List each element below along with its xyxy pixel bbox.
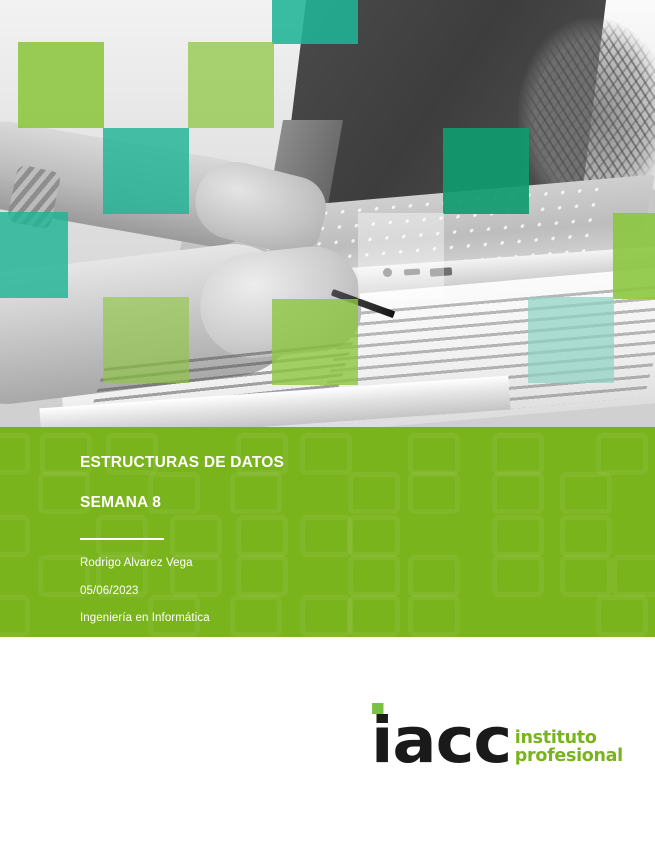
page-subtitle: SEMANA 8 xyxy=(80,471,635,511)
program-name: Ingeniería en Informática xyxy=(80,613,635,637)
mosaic-square xyxy=(188,42,274,128)
page-title: ESTRUCTURAS DE DATOS xyxy=(80,455,635,471)
logo-tagline-line2: profesional xyxy=(515,748,623,766)
logo-tagline: instituto profesional xyxy=(515,716,623,766)
banner-pattern-square xyxy=(0,433,30,475)
document-cover-page: ESTRUCTURAS DE DATOS SEMANA 8 Rodrigo Al… xyxy=(0,0,655,848)
logo-footer: iacc instituto profesional xyxy=(0,637,655,848)
banner-pattern-square xyxy=(0,515,30,557)
logo-dot-icon xyxy=(372,703,383,714)
mosaic-square xyxy=(443,128,529,214)
mosaic-square xyxy=(0,212,68,298)
mosaic-square xyxy=(358,213,444,299)
mosaic-square xyxy=(272,0,358,44)
iacc-wordmark-text: iacc xyxy=(371,704,511,777)
mosaic-square xyxy=(272,299,358,385)
iacc-wordmark: iacc xyxy=(371,716,511,766)
mosaic-square xyxy=(103,297,189,383)
title-banner: ESTRUCTURAS DE DATOS SEMANA 8 Rodrigo Al… xyxy=(0,427,655,637)
document-date: 05/06/2023 xyxy=(80,586,635,614)
document-metadata: Rodrigo Alvarez Vega 05/06/2023 Ingenier… xyxy=(80,540,635,637)
iacc-logo: iacc instituto profesional xyxy=(371,716,623,766)
banner-content: ESTRUCTURAS DE DATOS SEMANA 8 Rodrigo Al… xyxy=(80,455,635,637)
banner-pattern-square xyxy=(0,595,30,637)
plant-foliage-texture xyxy=(518,18,655,198)
author-name: Rodrigo Alvarez Vega xyxy=(80,558,635,586)
mosaic-square xyxy=(528,297,614,383)
hero-image xyxy=(0,0,655,427)
mosaic-square xyxy=(613,213,655,299)
mosaic-square xyxy=(103,128,189,214)
mosaic-square xyxy=(18,42,104,128)
